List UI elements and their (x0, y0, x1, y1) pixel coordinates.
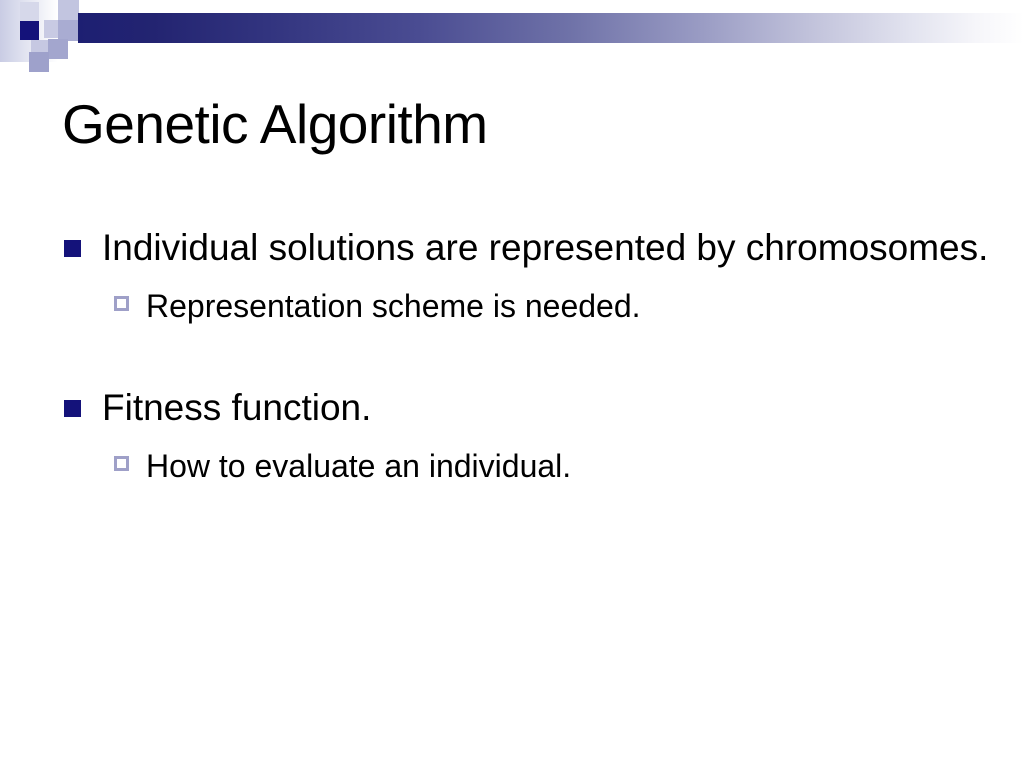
mosaic-square (20, 2, 39, 21)
list-item-label: How to evaluate an individual. (146, 448, 571, 484)
mosaic-square-navy (20, 21, 39, 40)
list-item-label: Fitness function. (102, 387, 371, 428)
mosaic-square (58, 20, 79, 41)
bullet-group-two: Fitness function. How to evaluate an ind… (0, 384, 1024, 488)
list-item-label: Individual solutions are represented by … (102, 227, 988, 268)
spacer (0, 328, 1024, 384)
slide-body: Individual solutions are represented by … (0, 224, 1024, 488)
list-item: Representation scheme is needed. (0, 284, 1024, 328)
list-item: Individual solutions are represented by … (0, 224, 1002, 272)
mosaic-square (58, 0, 79, 21)
hollow-square-bullet-icon (114, 456, 129, 471)
spacer (0, 272, 1024, 284)
mosaic-square (48, 39, 68, 59)
list-item: How to evaluate an individual. (0, 444, 1024, 488)
filled-square-bullet-icon (64, 240, 81, 257)
hollow-square-bullet-icon (114, 296, 129, 311)
spacer (0, 432, 1024, 444)
list-item-label: Representation scheme is needed. (146, 288, 641, 324)
bullet-group-one: Individual solutions are represented by … (0, 224, 1024, 328)
page-title: Genetic Algorithm (62, 92, 962, 156)
filled-square-bullet-icon (64, 400, 81, 417)
mosaic-square (29, 52, 49, 72)
header-gradient-bar (78, 13, 1024, 43)
list-item: Fitness function. (0, 384, 1002, 432)
presentation-slide: Genetic Algorithm Individual solutions a… (0, 0, 1024, 768)
slide-header-decoration (0, 0, 1024, 70)
